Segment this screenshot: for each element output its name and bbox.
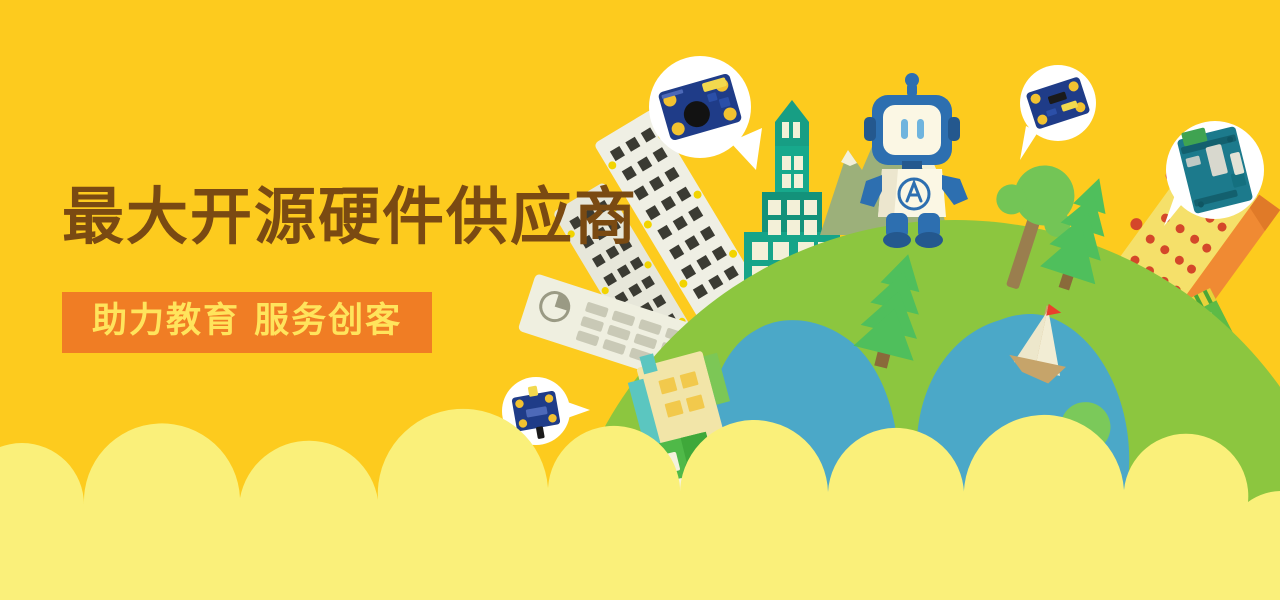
- robot-eye-left: [901, 119, 908, 139]
- robot-eye-right: [917, 119, 924, 139]
- subtitle-band: 助力教育 服务创客: [62, 292, 432, 353]
- page-title: 最大开源硬件供应商: [62, 186, 638, 248]
- cloud-band-bottom: [0, 409, 1280, 600]
- hero-banner: 最大开源硬件供应商 助力教育 服务创客: [0, 0, 1280, 600]
- subtitle-text: 助力教育 服务创客: [92, 303, 402, 340]
- headline-block: 最大开源硬件供应商 助力教育 服务创客: [62, 186, 638, 353]
